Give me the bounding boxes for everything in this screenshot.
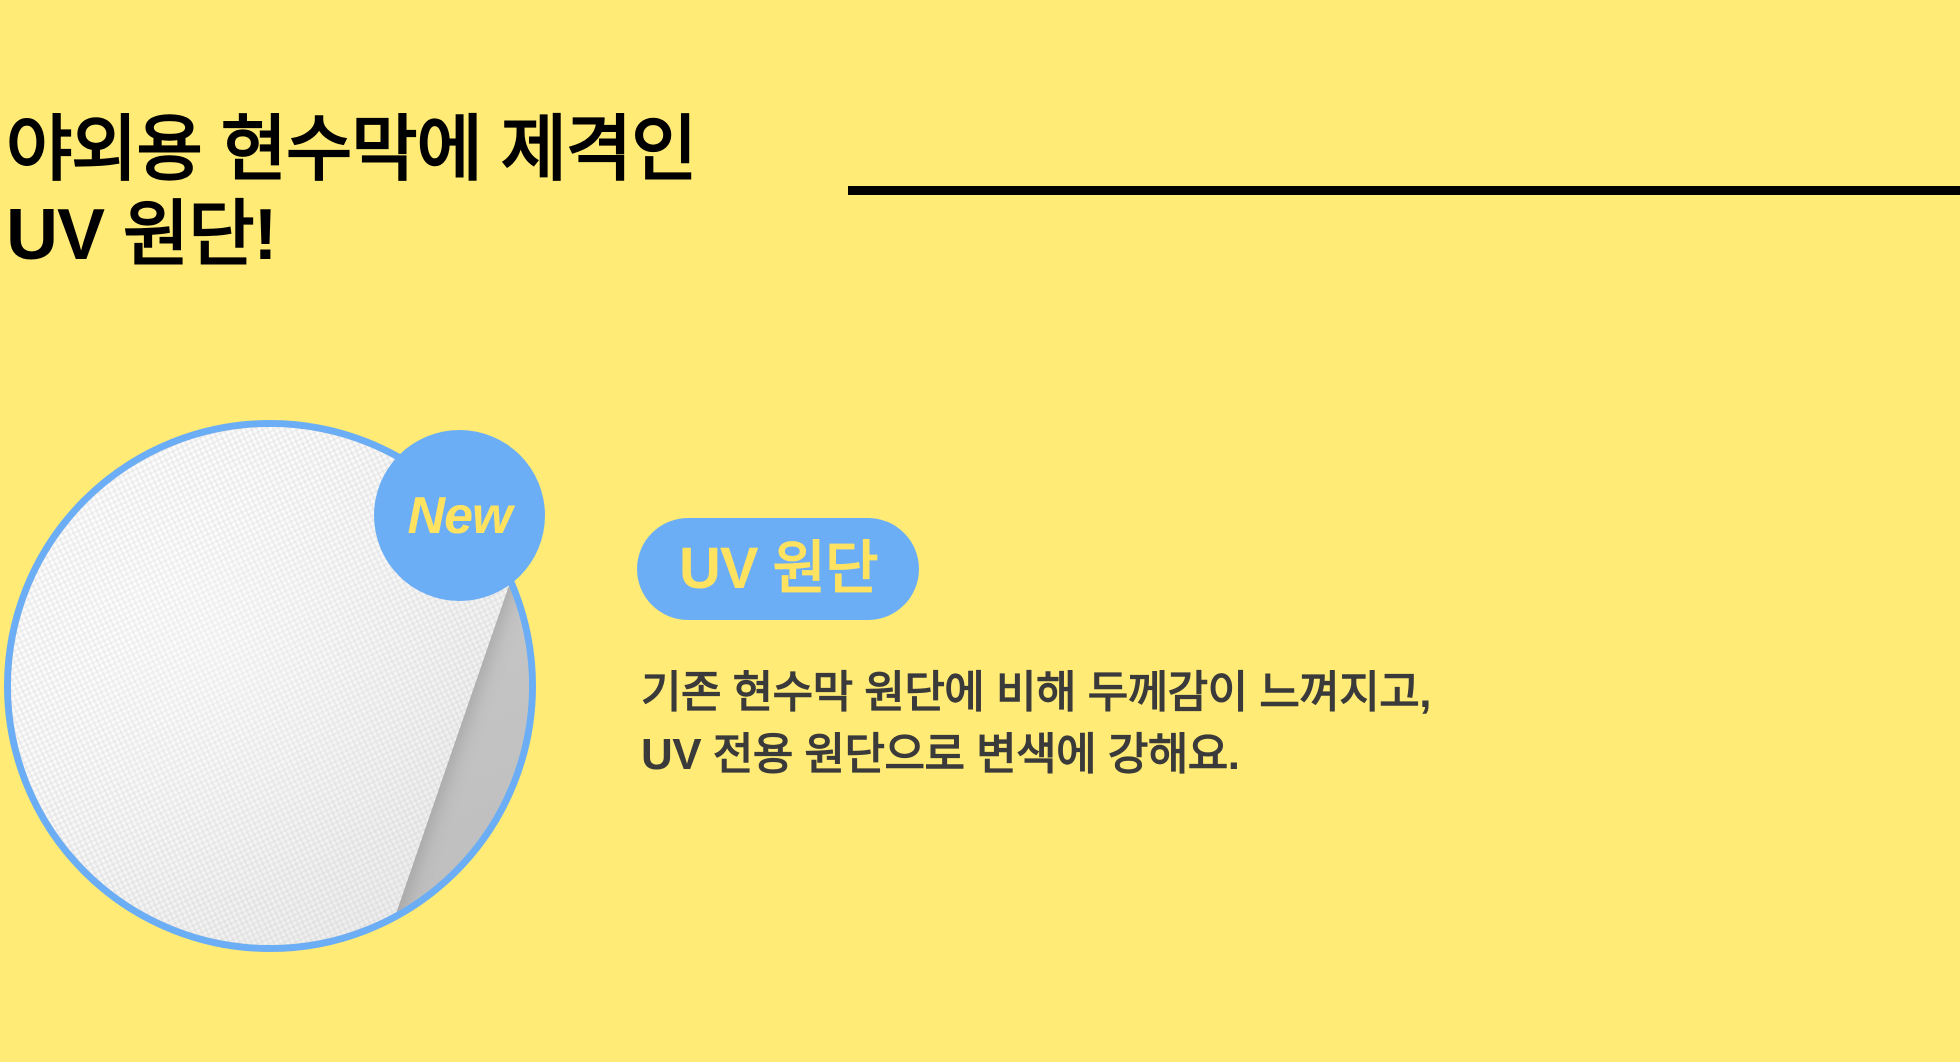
new-badge-label: New [408, 486, 512, 546]
uv-fabric-pill-badge: UV 원단 [637, 518, 919, 620]
page-title: 야외용 현수막에 제격인 UV 원단! [6, 108, 866, 278]
feature-description-line-2: UV 전용 원단으로 변색에 강해요. [641, 724, 1431, 786]
feature-description-line-1: 기존 현수막 원단에 비해 두께감이 느껴지고, [641, 662, 1431, 724]
new-badge: New [374, 430, 545, 601]
feature-description: 기존 현수막 원단에 비해 두께감이 느껴지고, UV 전용 원단으로 변색에 … [641, 662, 1431, 787]
headline-divider [848, 186, 1960, 195]
headline-line-1: 야외용 현수막에 제격인 [6, 108, 866, 193]
uv-fabric-pill-label: UV 원단 [679, 540, 877, 598]
promo-banner: 야외용 현수막에 제격인 UV 원단! New UV 원단 기존 현수막 원단에… [0, 0, 1960, 1062]
headline-line-2: UV 원단! [6, 193, 866, 278]
